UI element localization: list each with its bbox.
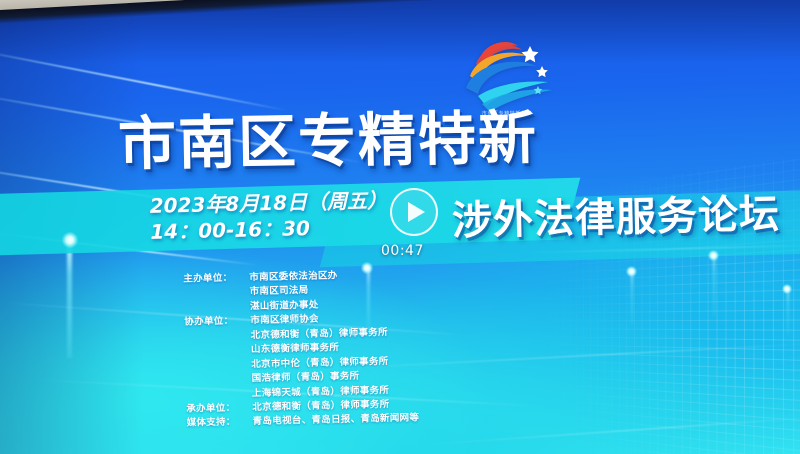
play-icon <box>408 202 425 222</box>
poster-title-sub: 涉外法律服务论坛 <box>452 195 781 242</box>
video-player-frame: 市南区专精特新标识 市南区专精特新 涉外法律服务论坛 2023年8月18日（周五… <box>0 0 800 454</box>
light-beam-right-b <box>713 256 715 316</box>
credit-label: 承办单位： <box>186 401 252 417</box>
light-beam-right-c <box>787 290 789 336</box>
credit-label: 媒体支持： <box>187 415 253 431</box>
video-timestamp: 00:47 <box>381 243 424 259</box>
logo-star-medium <box>536 66 548 77</box>
light-beam-left-glow <box>62 232 78 248</box>
credit-values: 市南区委依法治区办市南区司法局湛山街道办事处 <box>249 269 347 315</box>
credit-row: 主办单位：市南区委依法治区办市南区司法局湛山街道办事处 <box>183 267 417 316</box>
light-beam-right-b-glow <box>708 250 719 261</box>
poster-title-main: 市南区专精特新 <box>118 109 539 174</box>
credit-values: 市南区律师协会北京德和衡（青岛）律师事务所山东德衡律师事务所北京市中伦（青岛）律… <box>250 311 389 401</box>
credit-label: 协办单位： <box>184 314 250 330</box>
credit-label: 主办单位： <box>183 271 249 287</box>
light-beam-right-a <box>631 272 633 324</box>
poster-credits: 主办单位：市南区委依法治区办市南区司法局湛山街道办事处协办单位：市南区律师协会北… <box>183 267 419 431</box>
light-beam-right-a-glow <box>626 266 637 277</box>
logo-star-large <box>522 46 539 62</box>
poster-datetime: 2023年8月18日（周五） 14：00-16：30 <box>149 188 388 245</box>
play-button[interactable] <box>390 188 438 236</box>
credit-row: 协办单位：市南区律师协会北京德和衡（青岛）律师事务所山东德衡律师事务所北京市中伦… <box>184 311 419 403</box>
light-beam-left <box>67 238 72 358</box>
light-beam-right-c-glow <box>782 284 792 294</box>
